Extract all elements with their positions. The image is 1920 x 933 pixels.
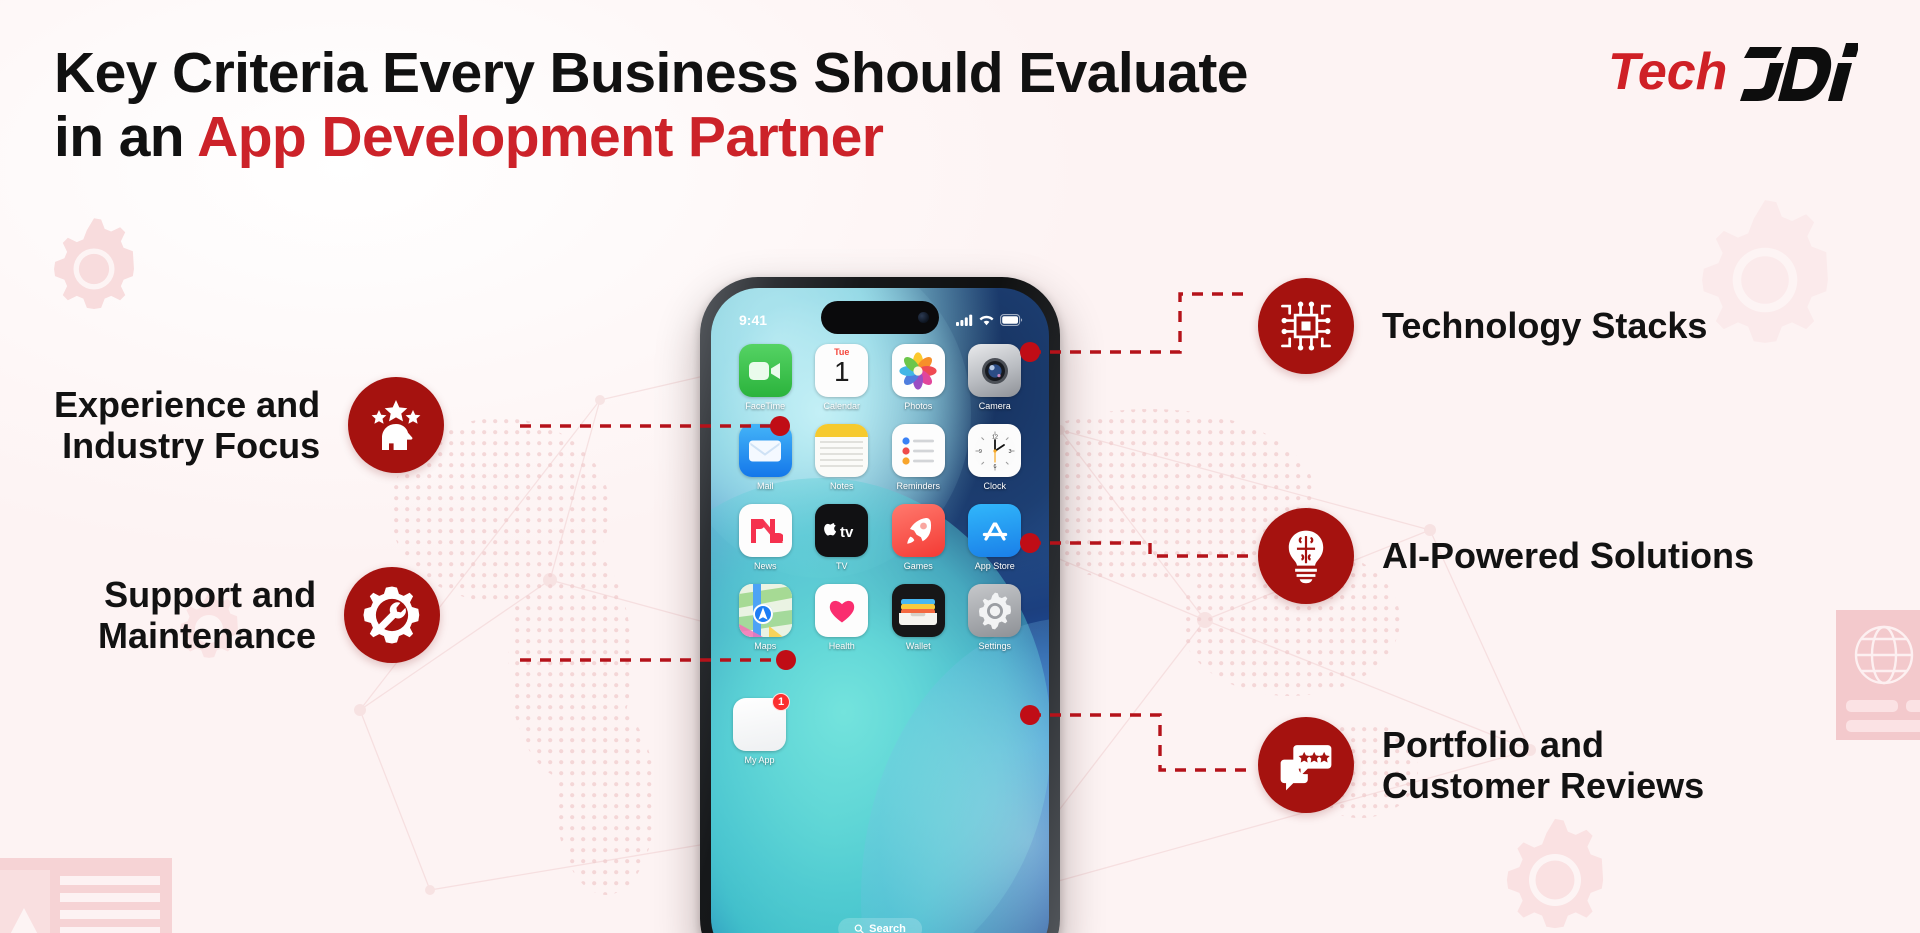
app-reminders[interactable]: Reminders	[886, 424, 951, 491]
app-health[interactable]: Health	[810, 584, 875, 651]
app-label: Photos	[904, 401, 932, 411]
app-label: Wallet	[906, 641, 931, 651]
callout-label: Support and Maintenance	[98, 574, 316, 657]
iphone-mockup: 9:41	[700, 277, 1060, 933]
callout-label-line2: Customer Reviews	[1382, 765, 1704, 806]
apple-tv-icon: tv	[815, 504, 868, 557]
camera-icon	[968, 344, 1021, 397]
callout-technology[interactable]: Technology Stacks	[1258, 278, 1707, 374]
facetime-icon	[739, 344, 792, 397]
app-label: Calendar	[823, 401, 860, 411]
calendar-icon: Tue 1	[815, 344, 868, 397]
app-news[interactable]: News	[733, 504, 798, 571]
battery-icon	[1000, 314, 1023, 326]
app-wallet[interactable]: Wallet	[886, 584, 951, 651]
app-label: Camera	[979, 401, 1011, 411]
app-badge: 1	[772, 693, 790, 711]
phone-screen[interactable]: 9:41	[711, 288, 1049, 933]
app-games[interactable]: Games	[886, 504, 951, 571]
decorative-gear-bottom-right	[1490, 815, 1620, 933]
photos-icon	[892, 344, 945, 397]
decorative-globe-card	[1836, 610, 1920, 740]
app-label: Maps	[754, 641, 776, 651]
calendar-day-number: 1	[834, 358, 850, 386]
app-label: Mail	[757, 481, 774, 491]
status-time: 9:41	[739, 312, 767, 328]
app-label: Notes	[830, 481, 854, 491]
wallpaper-swirl-blue	[861, 618, 1049, 933]
svg-text:tv: tv	[840, 524, 854, 540]
title-line-2-accent: App Development Partner	[197, 105, 883, 169]
games-rocket-icon	[892, 504, 945, 557]
wallet-icon	[892, 584, 945, 637]
app-maps[interactable]: Maps	[733, 584, 798, 651]
search-label: Search	[869, 923, 906, 933]
clock-icon: 12 3 6 9	[968, 424, 1021, 477]
page-title: Key Criteria Every Business Should Evalu…	[54, 42, 1248, 170]
brand-logo[interactable]: Tech	[1608, 38, 1858, 108]
callout-label-line1: Technology Stacks	[1382, 305, 1707, 346]
callout-label-line1: Portfolio and	[1382, 724, 1604, 765]
logo-text-tech: Tech	[1608, 43, 1727, 101]
app-mail[interactable]: Mail	[733, 424, 798, 491]
cellular-signal-icon	[956, 314, 973, 326]
app-label: App Store	[975, 561, 1015, 571]
app-label: TV	[836, 561, 848, 571]
callout-experience[interactable]: Experience and Industry Focus	[54, 377, 444, 473]
settings-gear-icon	[968, 584, 1021, 637]
app-my-app[interactable]: 1 My App	[733, 698, 786, 765]
callout-label: Experience and Industry Focus	[54, 384, 320, 467]
notes-icon	[815, 424, 868, 477]
wifi-icon	[979, 314, 994, 326]
callout-label-line1: AI-Powered Solutions	[1382, 535, 1754, 576]
maps-icon	[739, 584, 792, 637]
svg-text:6: 6	[993, 464, 996, 470]
title-line-2-prefix: in an	[54, 105, 197, 169]
lightbulb-puzzle-icon	[1258, 508, 1354, 604]
app-app-store[interactable]: App Store	[963, 504, 1028, 571]
search-pill[interactable]: Search	[838, 918, 922, 933]
microchip-circuit-icon	[1258, 278, 1354, 374]
health-heart-icon	[815, 584, 868, 637]
chat-bubbles-stars-icon	[1258, 717, 1354, 813]
callout-portfolio[interactable]: Portfolio and Customer Reviews	[1258, 717, 1704, 813]
callout-label: AI-Powered Solutions	[1382, 535, 1754, 576]
mail-icon	[739, 424, 792, 477]
tech-jdi-logo-icon: Tech	[1608, 39, 1858, 107]
head-with-stars-icon	[348, 377, 444, 473]
svg-text:3: 3	[1008, 449, 1011, 455]
app-clock[interactable]: 12 3 6 9 Clock	[963, 424, 1028, 491]
callout-support[interactable]: Support and Maintenance	[98, 567, 440, 663]
decorative-document-card	[0, 858, 180, 933]
callout-label-line2: Maintenance	[98, 615, 316, 656]
app-label: Settings	[978, 641, 1011, 651]
app-label: News	[754, 561, 777, 571]
app-label: My App	[744, 755, 774, 765]
callout-label: Portfolio and Customer Reviews	[1382, 724, 1704, 807]
app-notes[interactable]: Notes	[810, 424, 875, 491]
app-camera[interactable]: Camera	[963, 344, 1028, 411]
callout-label-line1: Support and	[104, 574, 316, 615]
gear-wrench-icon	[344, 567, 440, 663]
callout-ai[interactable]: AI-Powered Solutions	[1258, 508, 1754, 604]
app-tv[interactable]: tv TV	[810, 504, 875, 571]
app-label: Clock	[983, 481, 1006, 491]
header: Key Criteria Every Business Should Evalu…	[0, 0, 1920, 200]
news-icon	[739, 504, 792, 557]
title-line-1: Key Criteria Every Business Should Evalu…	[54, 41, 1248, 105]
callout-label: Technology Stacks	[1382, 305, 1707, 346]
app-grid[interactable]: FaceTime Tue 1 Calendar	[711, 344, 1049, 651]
app-settings[interactable]: Settings	[963, 584, 1028, 651]
app-label: Reminders	[896, 481, 940, 491]
app-store-icon	[968, 504, 1021, 557]
app-label: FaceTime	[745, 401, 785, 411]
callout-label-line1: Experience and	[54, 384, 320, 425]
dynamic-island	[821, 301, 939, 334]
app-label: Health	[829, 641, 855, 651]
decorative-gear-top-left	[40, 215, 148, 323]
app-label: Games	[904, 561, 933, 571]
app-facetime[interactable]: FaceTime	[733, 344, 798, 411]
reminders-icon	[892, 424, 945, 477]
search-icon	[854, 924, 864, 933]
svg-text:9: 9	[979, 449, 982, 455]
callout-label-line2: Industry Focus	[62, 425, 320, 466]
app-photos[interactable]: Photos	[886, 344, 951, 411]
front-camera-icon	[918, 312, 929, 323]
app-calendar[interactable]: Tue 1 Calendar	[810, 344, 875, 411]
